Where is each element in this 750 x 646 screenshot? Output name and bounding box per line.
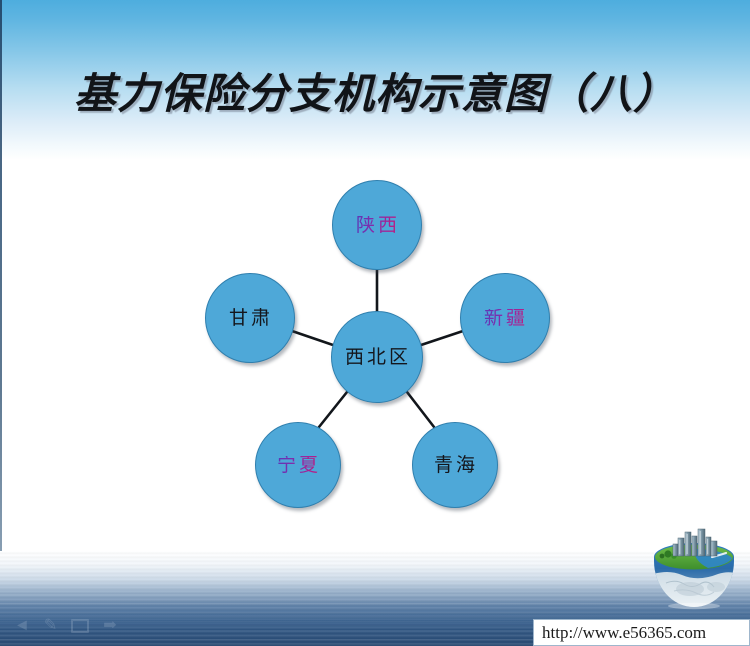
node-branch-ningxia[interactable]: 宁夏 — [255, 422, 341, 508]
globe-city-logo — [648, 527, 740, 611]
node-label-xinjiang: 新疆 — [484, 309, 528, 328]
node-label-qinghai: 青海 — [434, 456, 478, 475]
slideshow-menu-icon[interactable] — [71, 619, 89, 633]
node-label-ningxia: 宁夏 — [277, 456, 321, 475]
node-branch-shaanxi[interactable]: 陕西 — [332, 180, 422, 270]
node-label-shaanxi: 陕西 — [356, 216, 400, 235]
website-url-text: http://www.e56365.com — [542, 623, 706, 643]
node-label-center: 西北区 — [345, 348, 411, 367]
node-branch-xinjiang[interactable]: 新疆 — [460, 273, 550, 363]
presentation-slide: 基力保险分支机构示意图（八） 西北区 陕西 甘肃 新疆 宁夏 — [0, 0, 750, 646]
website-url-box[interactable]: http://www.e56365.com — [533, 619, 750, 646]
previous-slide-icon[interactable]: ◄ — [14, 618, 30, 634]
node-branch-qinghai[interactable]: 青海 — [412, 422, 498, 508]
pen-tool-icon[interactable]: ✎ — [44, 618, 57, 634]
node-center-northwest-region[interactable]: 西北区 — [331, 311, 423, 403]
next-slide-icon[interactable]: ➡ — [103, 618, 116, 634]
slideshow-nav-controls[interactable]: ◄ ✎ ➡ — [14, 618, 117, 634]
node-branch-gansu[interactable]: 甘肃 — [205, 273, 295, 363]
org-chart-diagram: 西北区 陕西 甘肃 新疆 宁夏 青海 — [0, 0, 750, 646]
node-label-gansu: 甘肃 — [229, 309, 273, 328]
